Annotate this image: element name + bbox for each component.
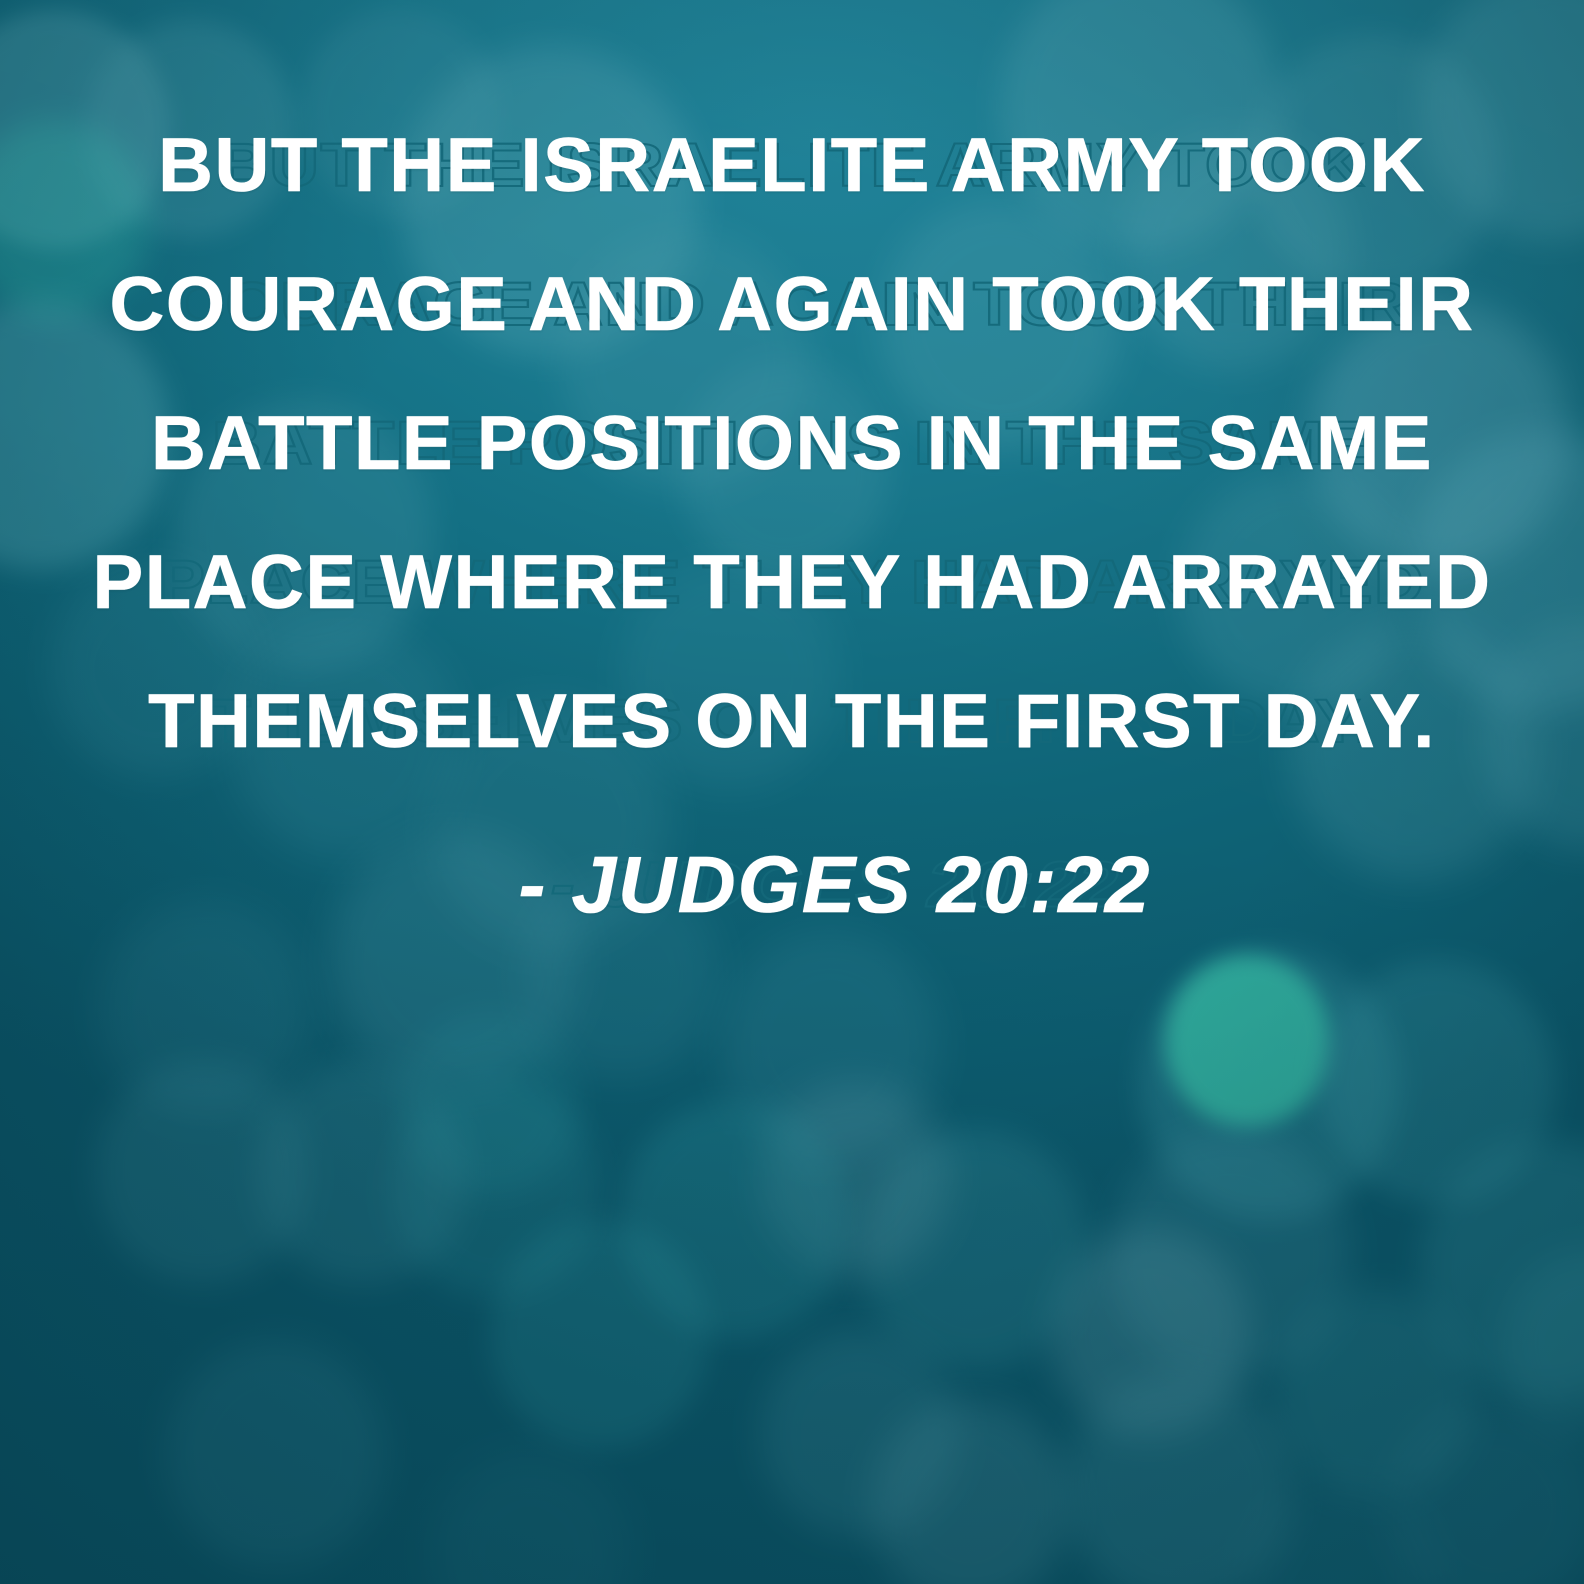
- verse-line-4-text: PLACE WHERE THEY HAD ARRAYED: [93, 540, 1492, 625]
- verse-image-canvas: BUT THE ISRAELITE ARMY TOOK COURAGE AND …: [0, 0, 1584, 1584]
- verse-line-3-text: BATTLE POSITIONS IN THE SAME: [151, 401, 1433, 486]
- verse-line-2: COURAGE AND AGAIN TOOK THEIR: [72, 267, 1512, 343]
- verse-content: BUT THE ISRAELITE ARMY TOOK COURAGE AND …: [0, 128, 1584, 925]
- verse-line-1-text: BUT THE ISRAELITE ARMY TOOK: [158, 123, 1426, 208]
- verse-line-5: THEMSELVES ON THE FIRST DAY.: [72, 684, 1512, 760]
- verse-line-4: PLACE WHERE THEY HAD ARRAYED: [72, 545, 1512, 621]
- verse-attribution: - JUDGES 20:22: [519, 845, 1152, 925]
- verse-line-2-text: COURAGE AND AGAIN TOOK THEIR: [110, 262, 1475, 347]
- verse-line-3: BATTLE POSITIONS IN THE SAME: [72, 406, 1512, 482]
- verse-line-1: BUT THE ISRAELITE ARMY TOOK: [72, 128, 1512, 204]
- verse-attribution-text: - JUDGES 20:22: [519, 840, 1152, 929]
- verse-line-5-text: THEMSELVES ON THE FIRST DAY.: [148, 679, 1436, 764]
